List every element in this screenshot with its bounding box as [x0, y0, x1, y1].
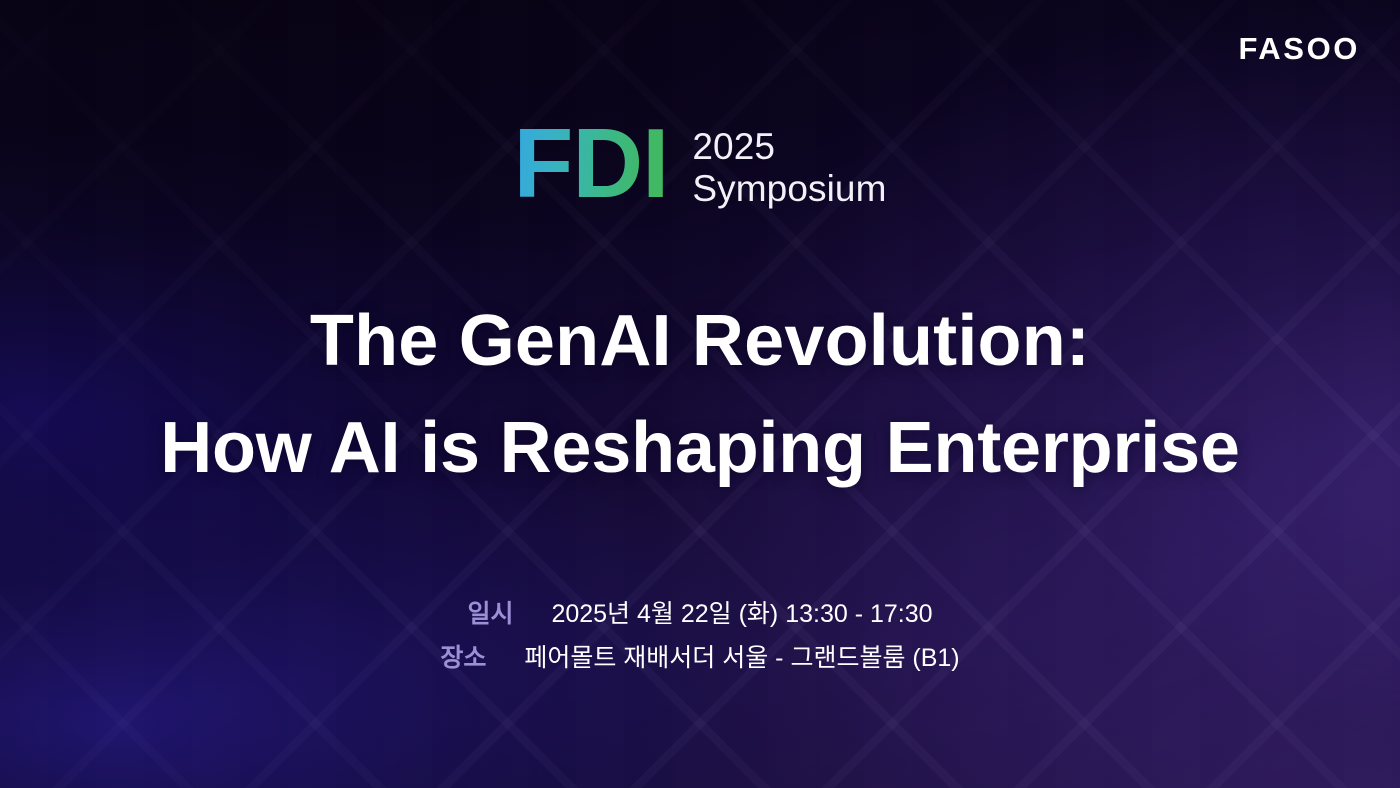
fasoo-wordmark-logo: FASOO — [1238, 33, 1360, 64]
fdi-symposium-logo-lockup: FDI 2025 Symposium — [0, 118, 1400, 210]
event-poster: FASOO FDI 2025 Symposium The GenAI Revol… — [0, 0, 1400, 788]
logo-event-name: Symposium — [692, 168, 886, 210]
event-details: 일시 2025년 4월 22일 (화) 13:30 - 17:30 장소 페어몰… — [0, 598, 1400, 676]
event-venue-value: 페어몰트 재배서더 서울 - 그랜드볼룸 (B1) — [524, 642, 959, 676]
fdi-logo-mark: FDI — [513, 118, 672, 208]
event-date-value: 2025년 4월 22일 (화) 13:30 - 17:30 — [551, 598, 932, 632]
event-venue-label: 장소 — [440, 642, 502, 676]
logo-year: 2025 — [692, 126, 886, 168]
page-title: The GenAI Revolution: How AI is Reshapin… — [0, 288, 1400, 501]
event-date-row: 일시 2025년 4월 22일 (화) 13:30 - 17:30 — [467, 598, 932, 632]
event-venue-row: 장소 페어몰트 재배서더 서울 - 그랜드볼룸 (B1) — [440, 642, 959, 676]
title-line-1: The GenAI Revolution: — [0, 288, 1400, 395]
symposium-logo-text: 2025 Symposium — [692, 126, 886, 210]
title-line-2: How AI is Reshaping Enterprise — [0, 395, 1400, 502]
poster-content: FASOO FDI 2025 Symposium The GenAI Revol… — [0, 0, 1400, 788]
event-date-label: 일시 — [467, 598, 529, 632]
